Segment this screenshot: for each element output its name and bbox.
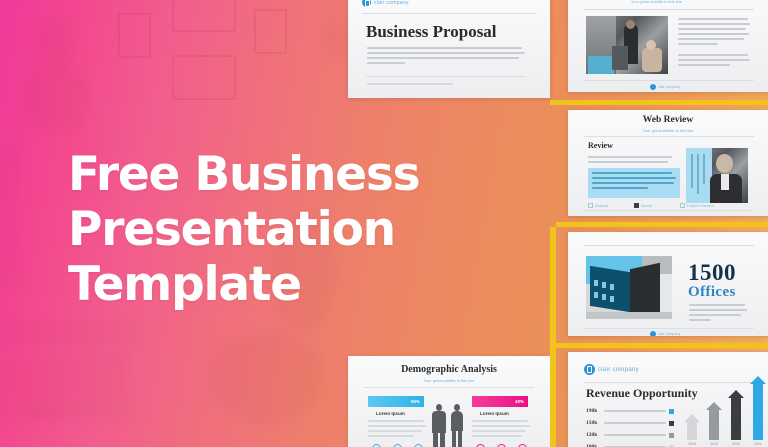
slide-card-demographic-analysis[interactable]: Demographic Analysis Your great subtitle… [348,356,550,447]
divider [584,136,754,137]
arrow-bar-3 [750,376,766,440]
company-logo-label: clair company [598,367,639,373]
divider-footer [584,80,754,81]
percent-value-left: 60% [411,399,420,404]
percent-bar-left: 60% [368,396,424,407]
divider-yellow-vertical-2 [550,348,556,447]
left-label: Lorem Ipsum [376,411,405,416]
divider-yellow-bottom [556,343,768,348]
checkbox-icon [588,203,593,208]
company-logo-label: clair company [374,0,409,6]
arrow-bar-2 [728,390,744,440]
chart-year-1: 2019 [704,442,724,446]
stat-value: 1500 [688,260,736,286]
office-building-photo [586,256,672,319]
arrow-bar-1 [706,402,722,440]
headline-line-2: Presentation [68,202,368,257]
percent-value-right: 40% [515,399,524,404]
slide-card-offices[interactable]: 1500 Offices clair company [568,232,768,336]
slide-footer-tag: clair company [650,331,680,336]
divider-yellow-top [550,100,768,105]
reviewer-portrait [686,148,748,203]
section-heading: Review [588,141,613,150]
percent-bar-right: 40% [472,396,528,407]
divider [362,13,536,14]
team-photo [586,16,668,74]
page-title: Free Business Presentation Template [68,147,368,312]
slide-subtitle: Your great subtitle in this line [568,128,768,133]
right-label: Lorem Ipsum [480,411,509,416]
divider [584,245,754,246]
divider-bottom [366,76,526,77]
legend-swatch [669,409,674,414]
divider-footer [584,210,754,211]
divider-footer [584,328,754,329]
divider [584,9,754,10]
legend-row-1: 150k [586,420,674,426]
chart-year-0: 2018 [682,442,702,446]
slide-title: Revenue Opportunity [586,386,698,401]
footer-item-2[interactable]: Feature Element [680,203,714,208]
company-logo-icon [650,84,656,90]
company-logo-label: clair company [658,85,680,89]
legend-row-0: 190k [586,408,674,414]
slide-subtitle: Your great subtitle in this line [631,0,682,4]
company-logo-label: clair company [658,332,680,336]
chart-year-2: 2020 [726,442,746,446]
legend-value: 150k [586,420,601,426]
headline-line-1: Free Business [68,147,368,202]
legend-value: 190k [586,408,601,414]
slide-logo: clair company [362,0,409,7]
slide-logo: clair company [584,364,639,375]
footer-item-1[interactable]: Survey [634,203,652,208]
headline-line-3: Template [68,257,368,312]
company-logo-icon [650,331,656,336]
slide-footnote-placeholder [367,83,453,85]
slide-title: Demographic Analysis [348,364,550,375]
divider [364,387,534,388]
legend-swatch [669,433,674,438]
stat-label: Offices [688,284,736,301]
legend-swatch [669,421,674,426]
checkbox-checked-icon [634,203,639,208]
divider-yellow-mid [556,222,768,227]
slide-title: Business Proposal [366,22,497,42]
slide-footer-tag: clair company [650,84,680,90]
company-logo-icon [584,364,595,375]
chart-year-3: 2021 [748,442,768,446]
slide-card-web-review[interactable]: Web Review Your great subtitle in this l… [568,110,768,216]
slide-card-team-photo[interactable]: Your great subtitle in this line clair c… [568,0,768,92]
company-logo-icon [362,0,371,7]
footer-item-0[interactable]: Analysis [588,203,608,208]
arrow-bar-0 [684,414,700,440]
slide-card-business-proposal[interactable]: clair company Business Proposal [348,0,550,98]
slide-title: Web Review [568,115,768,125]
divider-yellow-vertical [550,227,556,348]
legend-value: 120k [586,432,601,438]
slide-subtitle: Your great subtitle in this line [348,378,550,383]
divider [584,382,754,383]
review-quote-box [588,168,680,198]
slide-card-revenue-opportunity[interactable]: clair company Revenue Opportunity 190k 1… [568,352,768,447]
checkbox-icon [680,203,685,208]
legend-row-2: 120k [586,432,674,438]
